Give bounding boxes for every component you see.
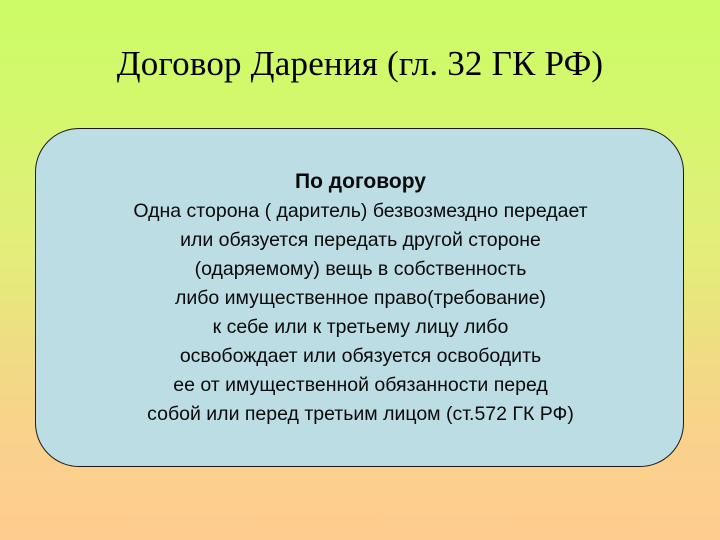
content-line: собой или перед третьим лицом (ст.572 ГК… xyxy=(36,400,685,429)
slide: Договор Дарения (гл. 32 ГК РФ) По догово… xyxy=(0,0,720,540)
content-box: По договору Одна сторона ( даритель) без… xyxy=(35,128,684,467)
content-line: к себе или к третьему лицу либо xyxy=(36,313,685,342)
content-line: либо имущественное право(требование) xyxy=(36,284,685,313)
content-heading: По договору xyxy=(36,167,685,197)
content-line: или обязуется передать другой стороне xyxy=(36,226,685,255)
content-line: (одаряемому) вещь в собственность xyxy=(36,255,685,284)
content-line: освобождает или обязуется освободить xyxy=(36,342,685,371)
content-text-block: По договору Одна сторона ( даритель) без… xyxy=(36,167,685,429)
page-title: Договор Дарения (гл. 32 ГК РФ) xyxy=(0,44,720,84)
content-line: Одна сторона ( даритель) безвозмездно пе… xyxy=(36,197,685,226)
content-line: ее от имущественной обязанности перед xyxy=(36,371,685,400)
